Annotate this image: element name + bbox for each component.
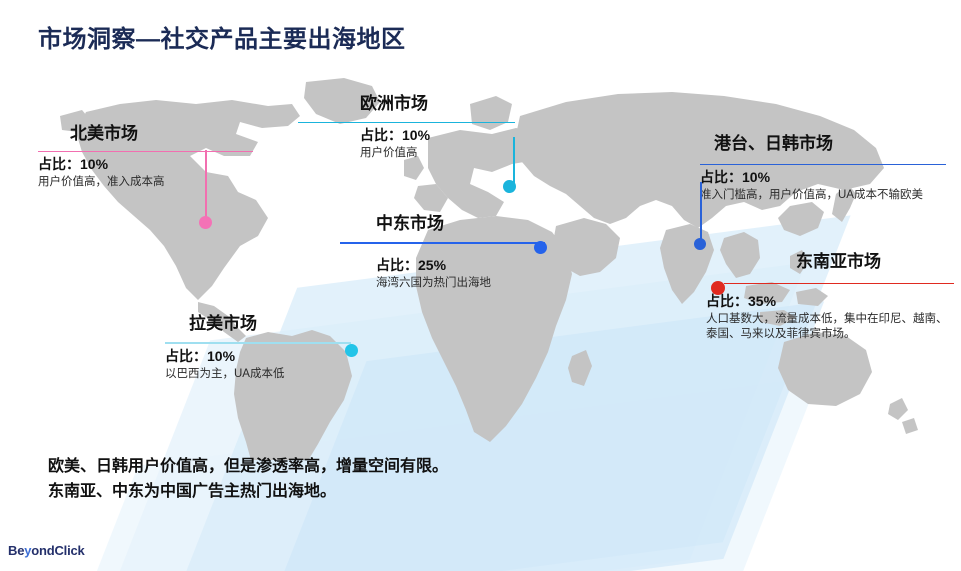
callout-rule-greater-china-japan-korea bbox=[700, 164, 946, 165]
callout-heading-north-america: 北美市场 bbox=[70, 124, 253, 144]
callout-share-north-america: 占比：10% bbox=[38, 155, 253, 173]
callout-latin-america: 拉美市场 占比：10% 以巴西为主，UA成本低 bbox=[165, 314, 351, 382]
callout-heading-latin-america: 拉美市场 bbox=[189, 314, 351, 334]
callout-share-southeast-asia: 占比：35% bbox=[706, 292, 956, 310]
callout-share-europe: 占比：10% bbox=[360, 126, 515, 144]
brand-logo: BeyondClick bbox=[8, 543, 85, 558]
callout-heading-middle-east: 中东市场 bbox=[376, 214, 545, 234]
callout-note-greater-china-japan-korea: 准入门槛高，用户价值高，UA成本不输欧美 bbox=[700, 188, 938, 204]
slide-canvas: 市场洞察—社交产品主要出海地区 北美市场 占比：10% 用户价值高，准入成本高 … bbox=[0, 0, 961, 571]
callout-rule-north-america bbox=[38, 151, 253, 152]
callout-note-latin-america: 以巴西为主，UA成本低 bbox=[165, 367, 351, 383]
page-title: 市场洞察—社交产品主要出海地区 bbox=[38, 19, 406, 54]
logo-text-post: ondClick bbox=[31, 543, 84, 558]
leader-line-europe bbox=[513, 137, 515, 185]
summary-line-1: 欧美、日韩用户价值高，但是渗透率高，增量空间有限。 bbox=[48, 455, 448, 480]
map-marker-southeast-asia bbox=[711, 281, 725, 295]
callout-note-middle-east: 海湾六国为热门出海地 bbox=[376, 276, 545, 292]
callout-middle-east: 中东市场 占比：25% 海湾六国为热门出海地 bbox=[340, 214, 545, 291]
logo-text-pre: Be bbox=[8, 543, 24, 558]
map-marker-middle-east bbox=[534, 241, 547, 254]
callout-europe: 欧洲市场 占比：10% 用户价值高 bbox=[298, 94, 515, 161]
callout-share-middle-east: 占比：25% bbox=[376, 256, 545, 274]
callout-rule-latin-america bbox=[165, 342, 351, 344]
map-marker-greater-china-japan-korea bbox=[694, 238, 706, 250]
callout-heading-greater-china-japan-korea: 港台、日韩市场 bbox=[714, 134, 946, 154]
callout-heading-southeast-asia: 东南亚市场 bbox=[796, 252, 956, 272]
callout-greater-china-japan-korea: 港台、日韩市场 占比：10% 准入门槛高，用户价值高，UA成本不输欧美 bbox=[700, 134, 946, 203]
leader-line-north-america bbox=[205, 150, 207, 222]
callout-share-latin-america: 占比：10% bbox=[165, 347, 351, 365]
summary-text: 欧美、日韩用户价值高，但是渗透率高，增量空间有限。 东南亚、中东为中国广告主热门… bbox=[48, 455, 448, 505]
callout-share-greater-china-japan-korea: 占比：10% bbox=[700, 168, 946, 186]
map-marker-north-america bbox=[199, 216, 212, 229]
callout-rule-europe bbox=[298, 122, 515, 123]
summary-line-2: 东南亚、中东为中国广告主热门出海地。 bbox=[48, 480, 448, 505]
map-marker-europe bbox=[503, 180, 516, 193]
callout-southeast-asia: 东南亚市场 占比：35% 人口基数大，流量成本低，集中在印尼、越南、泰国、马来以… bbox=[706, 252, 956, 343]
map-marker-latin-america bbox=[345, 344, 358, 357]
callout-rule-southeast-asia bbox=[724, 283, 954, 284]
callout-note-north-america: 用户价值高，准入成本高 bbox=[38, 175, 253, 191]
callout-heading-europe: 欧洲市场 bbox=[360, 94, 515, 114]
callout-rule-middle-east bbox=[340, 242, 545, 244]
leader-line-greater-china-japan-korea bbox=[700, 182, 702, 244]
callout-north-america: 北美市场 占比：10% 用户价值高，准入成本高 bbox=[38, 124, 253, 190]
callout-note-southeast-asia: 人口基数大，流量成本低，集中在印尼、越南、泰国、马来以及菲律宾市场。 bbox=[706, 312, 950, 343]
callout-note-europe: 用户价值高 bbox=[360, 146, 515, 162]
